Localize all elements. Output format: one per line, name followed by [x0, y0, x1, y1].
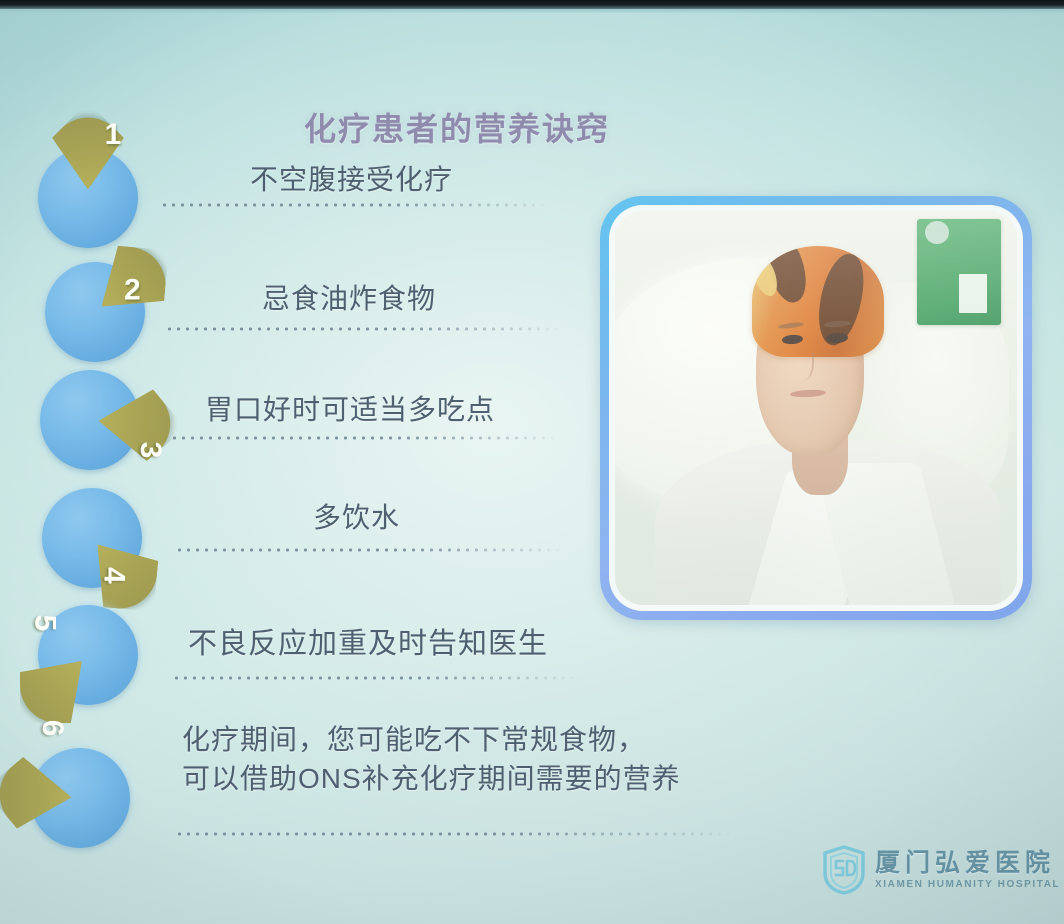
step-divider-3	[170, 436, 560, 440]
shield-icon	[822, 845, 866, 895]
step-divider-2	[165, 327, 565, 331]
screen-top-glow	[0, 9, 1064, 14]
step-marker-3: 3	[40, 370, 150, 480]
slide-canvas: 化疗患者的营养诀窍 1 不空腹接受化疗 2 忌食油炸食物 3 胃口好时可适当多吃…	[0, 0, 1064, 924]
marker-wedge-2: 2	[25, 242, 166, 383]
step-divider-6	[175, 832, 735, 836]
marker-wedge-6: 6	[26, 744, 134, 852]
step-marker-6: 6	[30, 748, 140, 858]
page-title: 化疗患者的营养诀窍	[0, 104, 1064, 150]
step-marker-5: 5	[38, 605, 148, 715]
logo-text-block: 厦门弘爱医院 XIAMEN HUMANITY HOSPITAL	[875, 850, 1060, 890]
patient-photo	[609, 205, 1023, 611]
step-divider-5	[172, 676, 582, 680]
step-marker-2: 2	[45, 262, 155, 372]
step-text-6: 化疗期间，您可能吃不下常规食物， 可以借助ONS补充化疗期间需要的营养	[182, 720, 762, 798]
step-divider-4	[175, 548, 565, 552]
step-text-6-line2: 可以借助ONS补充化疗期间需要的营养	[182, 759, 762, 798]
patient-photo-frame	[600, 196, 1032, 620]
step-marker-1: 1	[38, 148, 148, 258]
page-title-text: 化疗患者的营养诀窍	[304, 111, 610, 147]
photo-patient-headscarf	[752, 246, 885, 356]
step-text-3: 胃口好时可适当多吃点	[205, 388, 495, 428]
step-text-4: 多饮水	[313, 496, 400, 536]
step-divider-1	[160, 203, 550, 207]
step-text-2: 忌食油炸食物	[262, 277, 436, 317]
marker-wedge-1: 1	[38, 148, 138, 248]
step-text-5: 不良反应加重及时告知医生	[188, 620, 548, 662]
marker-wedge-3: 3	[36, 366, 144, 474]
photo-green-box-label	[959, 274, 987, 313]
photo-green-box-dot	[925, 221, 949, 245]
marker-number-5: 5	[10, 588, 80, 658]
logo-name-en: XIAMEN HUMANITY HOSPITAL	[875, 880, 1060, 890]
marker-wedge-5: 5	[17, 584, 158, 725]
logo-name-cn: 厦门弘爱医院	[875, 850, 1060, 875]
step-text-1: 不空腹接受化疗	[250, 158, 453, 198]
step-text-6-line1: 化疗期间，您可能吃不下常规食物，	[182, 720, 762, 759]
screen-top-bezel	[0, 0, 1064, 9]
step-marker-4: 4	[42, 488, 152, 598]
hospital-logo: 厦门弘爱医院 XIAMEN HUMANITY HOSPITAL	[822, 845, 1060, 895]
